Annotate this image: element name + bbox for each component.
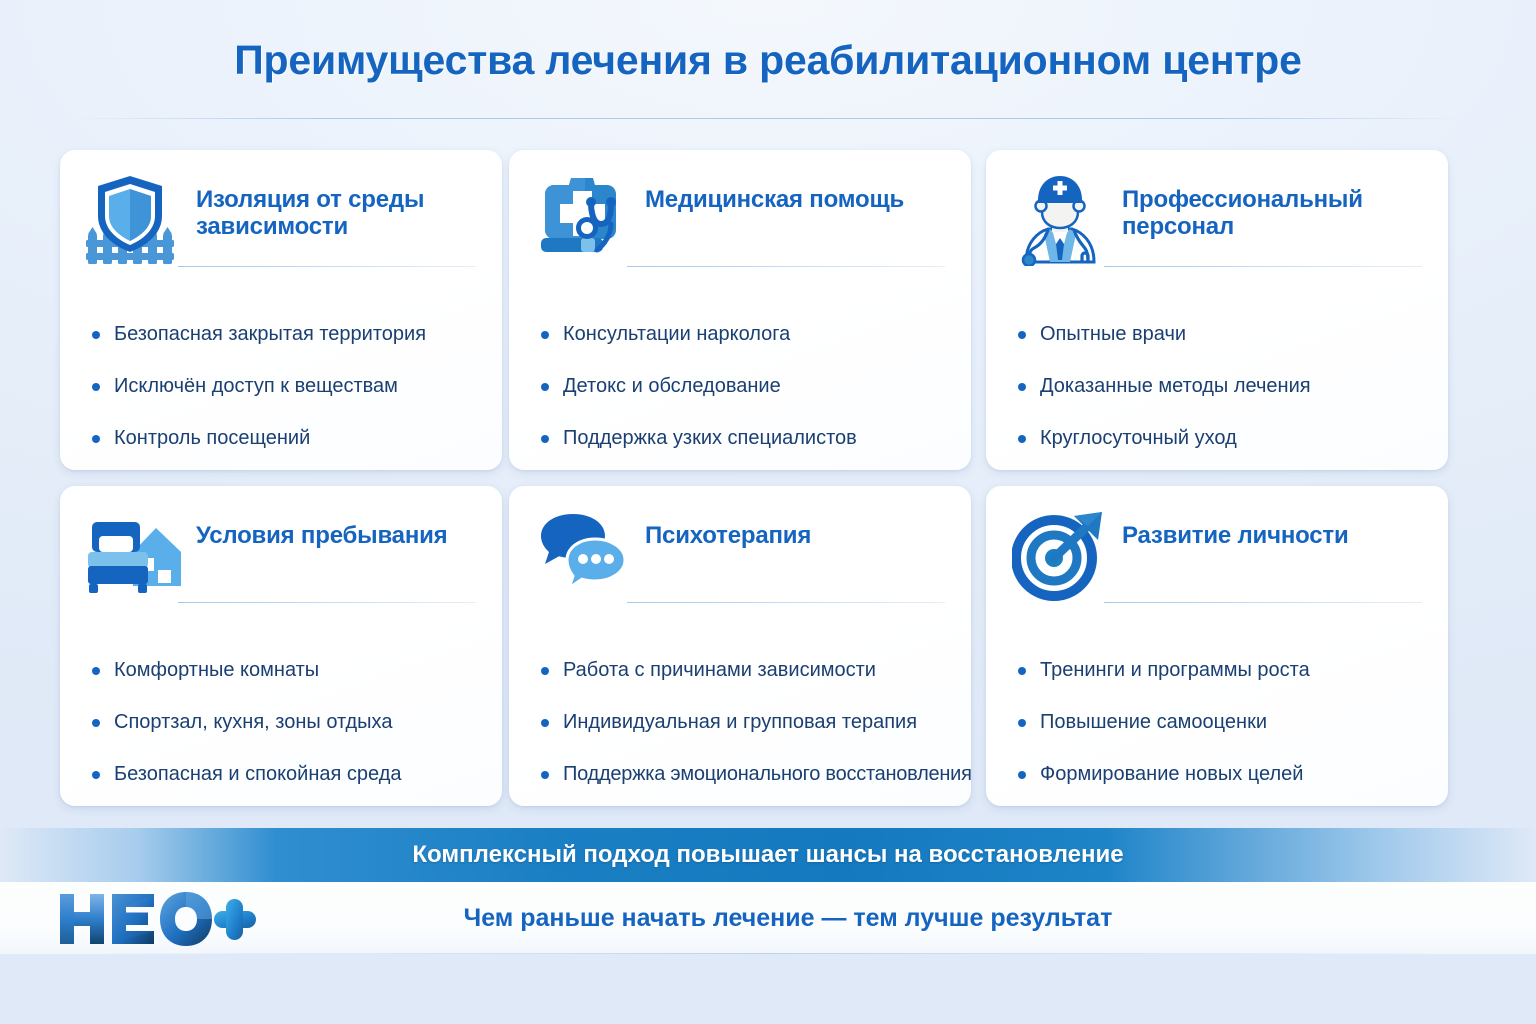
benefit-list: Комфортные комнаты Спортзал, кухня, зоны… — [86, 658, 476, 786]
doctor-icon — [1012, 172, 1108, 266]
card-header: Условия пребывания — [86, 508, 476, 602]
neo-plus-logo[interactable] — [56, 888, 256, 950]
summary-banner-text: Комплексный подход повышает шансы на вос… — [412, 841, 1123, 869]
benefit-card-accommodation[interactable]: Условия пребывания Комфортные комнаты Сп… — [60, 486, 502, 806]
card-divider — [178, 266, 476, 267]
medical-bag-stethoscope-icon — [535, 172, 631, 266]
card-divider — [178, 602, 476, 603]
card-header: Психотерапия — [535, 508, 945, 602]
list-item: Детокс и обследование — [535, 374, 945, 398]
benefit-list: Консультации нарколога Детокс и обследов… — [535, 322, 945, 450]
list-item: Индивидуальная и групповая терапия — [535, 710, 945, 734]
benefit-list: Безопасная закрытая территория Исключён … — [86, 322, 476, 450]
benefit-list: Работа с причинами зависимости Индивидуа… — [535, 658, 945, 786]
card-header: Профессиональный персонал — [1012, 172, 1422, 266]
card-header: Изоляция от среды зависимости — [86, 172, 476, 266]
card-title: Изоляция от среды зависимости — [196, 172, 476, 241]
list-item: Опытные врачи — [1012, 322, 1422, 346]
benefits-grid: Изоляция от среды зависимости Безопасная… — [60, 150, 1456, 806]
card-title: Профессиональный персонал — [1122, 172, 1422, 241]
benefit-card-medical-help[interactable]: Медицинская помощь Консультации нарколог… — [509, 150, 971, 470]
page-title: Преимущества лечения в реабилитационном … — [234, 37, 1302, 84]
list-item: Тренинги и программы роста — [1012, 658, 1422, 682]
card-title: Условия пребывания — [196, 508, 447, 549]
target-arrow-icon — [1012, 508, 1108, 602]
card-divider — [1104, 266, 1422, 267]
list-item: Контроль посещений — [86, 426, 476, 450]
list-item: Работа с причинами зависимости — [535, 658, 945, 682]
list-item: Безопасная и спокойная среда — [86, 762, 476, 786]
infographic-page: Преимущества лечения в реабилитационном … — [0, 0, 1536, 1024]
card-header: Развитие личности — [1012, 508, 1422, 602]
list-item: Повышение самооценки — [1012, 710, 1422, 734]
list-item: Круглосуточный уход — [1012, 426, 1422, 450]
list-item: Поддержка эмоционального восстановления — [535, 762, 945, 786]
list-item: Исключён доступ к веществам — [86, 374, 476, 398]
card-divider — [627, 266, 945, 267]
list-item: Спортзал, кухня, зоны отдыха — [86, 710, 476, 734]
card-divider — [627, 602, 945, 603]
list-item: Доказанные методы лечения — [1012, 374, 1422, 398]
bed-house-icon — [86, 508, 182, 602]
benefit-card-isolation[interactable]: Изоляция от среды зависимости Безопасная… — [60, 150, 502, 470]
list-item: Формирование новых целей — [1012, 762, 1422, 786]
card-title: Развитие личности — [1122, 508, 1349, 549]
card-title: Медицинская помощь — [645, 172, 904, 213]
speech-bubbles-icon — [535, 508, 631, 602]
page-title-area: Преимущества лечения в реабилитационном … — [0, 0, 1536, 120]
card-title: Психотерапия — [645, 508, 811, 549]
summary-banner: Комплексный подход повышает шансы на вос… — [0, 828, 1536, 882]
title-divider — [70, 118, 1466, 119]
shield-fence-icon — [86, 172, 182, 266]
list-item: Поддержка узких специалистов — [535, 426, 945, 450]
list-item: Безопасная закрытая территория — [86, 322, 476, 346]
card-divider — [1104, 602, 1422, 603]
benefit-card-personal-growth[interactable]: Развитие личности Тренинги и программы р… — [986, 486, 1448, 806]
benefit-list: Опытные врачи Доказанные методы лечения … — [1012, 322, 1422, 450]
benefit-card-psychotherapy[interactable]: Психотерапия Работа с причинами зависимо… — [509, 486, 971, 806]
list-item: Консультации нарколога — [535, 322, 945, 346]
benefit-card-professional-staff[interactable]: Профессиональный персонал Опытные врачи … — [986, 150, 1448, 470]
card-header: Медицинская помощь — [535, 172, 945, 266]
benefit-list: Тренинги и программы роста Повышение сам… — [1012, 658, 1422, 786]
list-item: Комфортные комнаты — [86, 658, 476, 682]
